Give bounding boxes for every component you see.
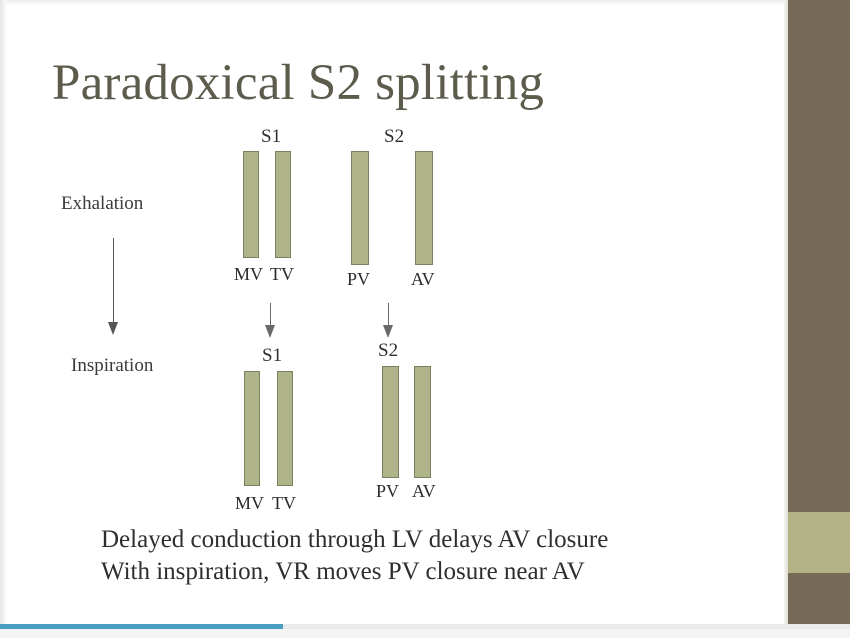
- slide-top-edge: [0, 0, 788, 5]
- s2-transition-arrow-icon: [383, 303, 394, 339]
- bar-inspiration-tv: [277, 371, 293, 486]
- valve-label-exhalation-tv: TV: [270, 264, 294, 285]
- valve-label-inspiration-mv: MV: [235, 493, 264, 514]
- decorative-side-band: [788, 0, 850, 624]
- slide-canvas: Paradoxical S2 splitting Exhalation Insp…: [0, 0, 850, 638]
- bar-exhalation-pv: [351, 151, 369, 265]
- slide-left-edge: [0, 0, 7, 624]
- progress-fill[interactable]: [0, 624, 283, 629]
- body-line-1: Delayed conduction through LV delays AV …: [101, 524, 608, 556]
- group-label-exhalation-s1: S1: [261, 126, 281, 148]
- phase-label-exhalation: Exhalation: [61, 193, 143, 215]
- bar-exhalation-tv: [275, 151, 291, 258]
- valve-label-inspiration-av: AV: [412, 481, 436, 502]
- page-title: Paradoxical S2 splitting: [52, 52, 544, 114]
- valve-label-exhalation-av: AV: [411, 269, 435, 290]
- band-block-dark-bottom: [788, 573, 850, 624]
- body-line-2: With inspiration, VR moves PV closure ne…: [101, 556, 608, 588]
- phase-transition-arrow-icon: [108, 238, 119, 338]
- bar-inspiration-mv: [244, 371, 260, 486]
- group-label-inspiration-s1: S1: [262, 345, 282, 367]
- band-block-dark-top: [788, 0, 850, 512]
- bar-exhalation-mv: [243, 151, 259, 258]
- bar-inspiration-av: [414, 366, 431, 478]
- valve-label-inspiration-pv: PV: [376, 481, 399, 502]
- valve-label-inspiration-tv: TV: [272, 493, 296, 514]
- slide-body-text: Delayed conduction through LV delays AV …: [101, 524, 608, 588]
- group-label-exhalation-s2: S2: [384, 126, 404, 148]
- valve-label-exhalation-pv: PV: [347, 269, 370, 290]
- bar-exhalation-av: [415, 151, 433, 265]
- phase-label-inspiration: Inspiration: [71, 355, 153, 377]
- valve-label-exhalation-mv: MV: [234, 264, 263, 285]
- bar-inspiration-pv: [382, 366, 399, 478]
- group-label-inspiration-s2: S2: [378, 340, 398, 362]
- band-block-sage: [788, 512, 850, 573]
- s1-transition-arrow-icon: [265, 303, 276, 339]
